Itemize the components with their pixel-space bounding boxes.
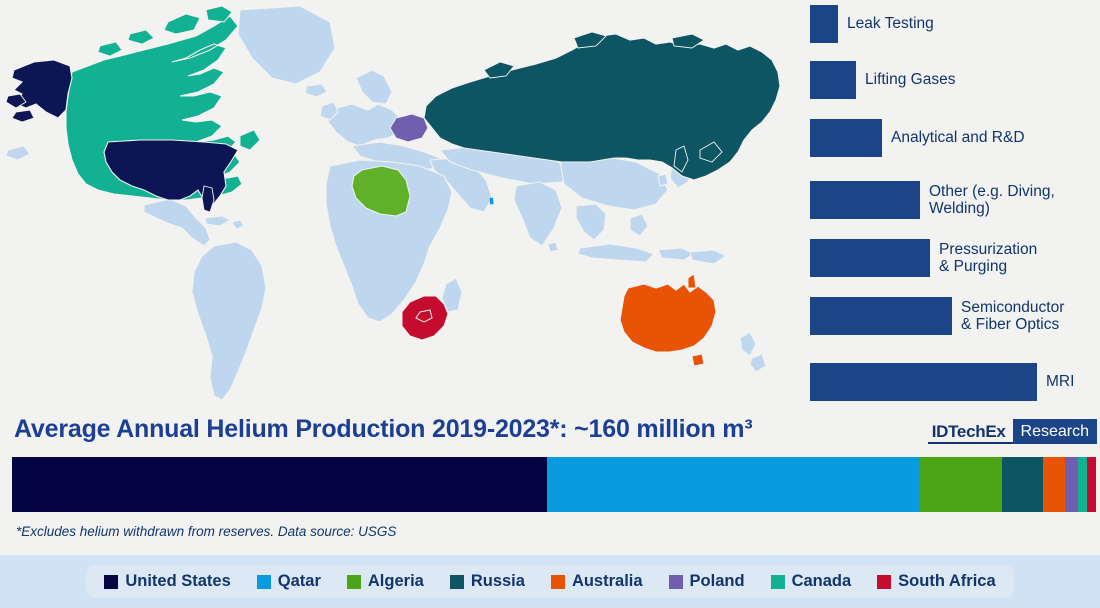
segment-canada [1078,457,1088,512]
legend-item-south-africa: South Africa [877,572,995,591]
legend-item-united-states: United States [104,572,230,591]
map-country-qatar [489,197,494,205]
legend-item-canada: Canada [771,572,852,591]
legend-item-australia: Australia [551,572,643,591]
bar-lifting-gases [810,61,856,99]
legend-swatch [771,575,785,589]
map-country-poland [390,114,428,142]
legend-label: Qatar [278,572,321,591]
legend-label: Algeria [368,572,424,591]
legend-label: Poland [690,572,745,591]
bar-row: Analytical and R&D [810,118,1025,158]
legend: United States Qatar Algeria Russia Austr… [0,555,1100,608]
bar-label: Pressurization & Purging [939,241,1037,276]
segment-united-states [12,457,547,512]
brand-name: IDTechEx [928,419,1013,444]
bar-row: Lifting Gases [810,60,955,100]
bar-other-diving-welding [810,181,920,219]
idtechex-logo: IDTechEx Research [928,419,1097,444]
bar-row: Pressurization & Purging [810,238,1037,278]
footnote: *Excludes helium withdrawn from reserves… [16,524,396,539]
legend-swatch [551,575,565,589]
bar-semiconductor-and-fiber-optics [810,297,952,335]
page-title: Average Annual Helium Production 2019-20… [14,415,752,444]
world-map [0,0,800,408]
legend-label: South Africa [898,572,995,591]
legend-label: United States [125,572,230,591]
segment-south-africa [1087,457,1096,512]
legend-label: Canada [792,572,852,591]
legend-inner: United States Qatar Algeria Russia Austr… [86,565,1013,598]
bar-row: Other (e.g. Diving, Welding) [810,180,1055,220]
legend-swatch [104,575,118,589]
legend-item-algeria: Algeria [347,572,424,591]
infographic-root: Leak Testing Lifting Gases Analytical an… [0,0,1100,608]
legend-label: Australia [572,572,643,591]
legend-item-russia: Russia [450,572,525,591]
bar-label: Leak Testing [847,15,934,32]
segment-algeria [919,457,1001,512]
helium-usage-bar-chart: Leak Testing Lifting Gases Analytical an… [800,0,1100,408]
legend-label: Russia [471,572,525,591]
legend-swatch [257,575,271,589]
title-strip: Average Annual Helium Production 2019-20… [0,408,1100,454]
legend-item-qatar: Qatar [257,572,321,591]
legend-swatch [450,575,464,589]
production-share-stacked-bar [12,457,1096,512]
legend-swatch [347,575,361,589]
bar-label: Semiconductor & Fiber Optics [961,299,1064,334]
segment-russia [1002,457,1043,512]
world-map-svg [0,0,800,408]
bar-row: Leak Testing [810,4,934,44]
legend-item-poland: Poland [669,572,745,591]
bar-row: MRI [810,362,1074,402]
bar-mri [810,363,1037,401]
bar-label: Lifting Gases [865,71,955,88]
bar-label: Analytical and R&D [891,129,1025,146]
bar-row: Semiconductor & Fiber Optics [810,296,1064,336]
segment-poland [1065,457,1078,512]
bar-leak-testing [810,5,838,43]
segment-qatar [547,457,919,512]
top-section: Leak Testing Lifting Gases Analytical an… [0,0,1100,408]
bar-analytical-and-rd [810,119,882,157]
bar-pressurization-and-purging [810,239,930,277]
legend-swatch [669,575,683,589]
segment-australia [1043,457,1065,512]
legend-swatch [877,575,891,589]
bar-label: Other (e.g. Diving, Welding) [929,183,1055,218]
brand-research-tag: Research [1013,419,1097,444]
bar-label: MRI [1046,373,1074,390]
